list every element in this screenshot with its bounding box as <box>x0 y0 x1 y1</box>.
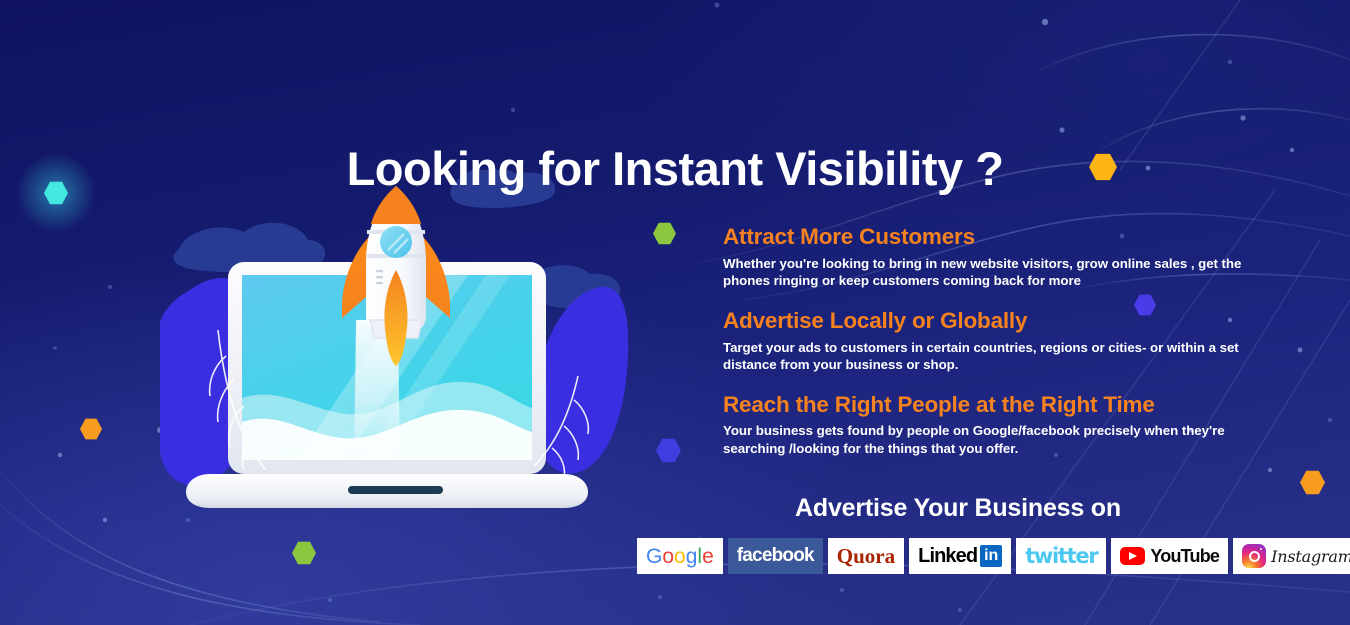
linkedin-wordmark: Linked <box>918 545 977 568</box>
hex-orange-right-icon <box>1300 470 1325 495</box>
instagram-camera-icon <box>1242 544 1266 568</box>
laptop-rocket-illustration <box>160 170 630 510</box>
hex-blue-mid-icon <box>656 438 681 463</box>
feature-list: Attract More Customers Whether you're lo… <box>723 225 1288 458</box>
platform-logo-facebook[interactable]: facebook <box>728 538 823 574</box>
youtube-play-icon <box>1120 547 1145 565</box>
linkedin-in-icon: in <box>980 545 1002 567</box>
feature-heading: Advertise Locally or Globally <box>723 309 1288 334</box>
rocket-vents <box>376 270 383 284</box>
hex-orange-left-icon <box>80 418 102 440</box>
platform-logo-google[interactable]: Google <box>637 538 723 574</box>
feature-heading: Attract More Customers <box>723 225 1288 250</box>
hex-green-left-icon <box>653 222 676 245</box>
promo-banner: Looking for Instant Visibility ? Attract… <box>0 0 1350 625</box>
google-logo-icon: Google <box>646 546 714 567</box>
feature-item-attract: Attract More Customers Whether you're lo… <box>723 225 1288 290</box>
twitter-logo-icon: twitter <box>1025 544 1097 568</box>
youtube-wordmark: YouTube <box>1150 546 1219 567</box>
quora-logo-icon: Quora <box>837 544 895 569</box>
platform-logo-youtube[interactable]: YouTube <box>1111 538 1228 574</box>
platform-logo-instagram[interactable]: Instagram <box>1233 538 1350 574</box>
advertise-heading: Advertise Your Business on <box>723 494 1193 523</box>
feature-body: Your business gets found by people on Go… <box>723 422 1288 457</box>
feature-item-reach: Reach the Right People at the Right Time… <box>723 393 1288 458</box>
platform-logo-linkedin[interactable]: Linked in <box>909 538 1011 574</box>
facebook-logo-icon: facebook <box>737 545 814 567</box>
feature-body: Target your ads to customers in certain … <box>723 339 1288 374</box>
hex-green-low-icon <box>292 541 316 565</box>
instagram-wordmark: Instagram <box>1271 547 1350 566</box>
page-title: Looking for Instant Visibility ? <box>0 141 1350 196</box>
feature-item-advertise: Advertise Locally or Globally Target you… <box>723 309 1288 374</box>
feature-heading: Reach the Right People at the Right Time <box>723 393 1288 418</box>
feature-body: Whether you're looking to bring in new w… <box>723 255 1288 290</box>
platform-logo-strip: Google facebook Quora Linked in twitter … <box>637 538 1350 574</box>
laptop-trackpad-bar <box>348 486 443 494</box>
platform-logo-quora[interactable]: Quora <box>828 538 904 574</box>
platform-logo-twitter[interactable]: twitter <box>1016 538 1106 574</box>
